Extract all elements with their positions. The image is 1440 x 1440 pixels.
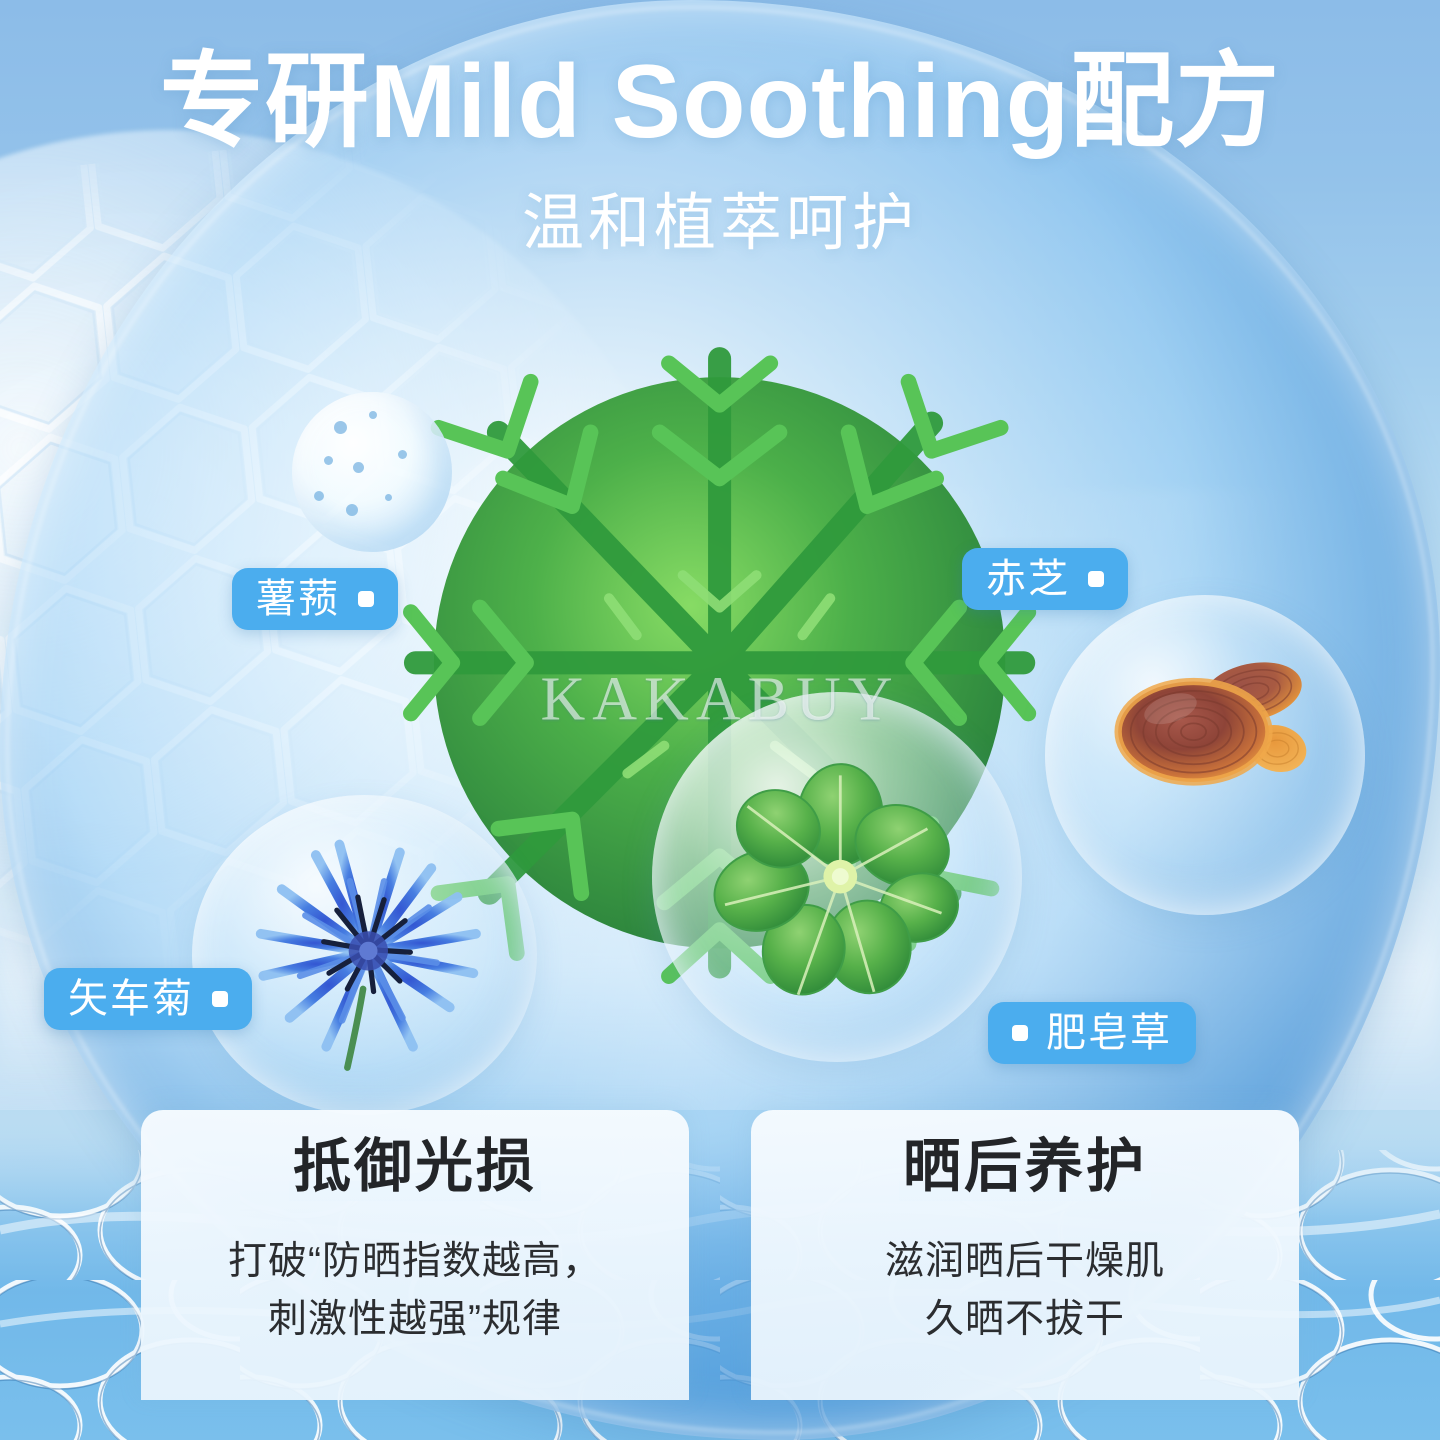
- feature-card-heading: 抵御光损: [289, 1136, 541, 1203]
- feature-cards: 抵御光损 打破“防晒指数越高， 刺激性越强”规律 晒后养护 滋润晒后干燥肌 久晒…: [0, 1110, 1440, 1440]
- ingredient-badge-reishi[interactable]: 赤芝: [962, 548, 1128, 610]
- feature-card-after-sun-care[interactable]: 晒后养护 滋润晒后干燥肌 久晒不拔干: [751, 1110, 1299, 1400]
- cornflower-icon: [220, 821, 517, 1083]
- feature-card-heading: 晒后养护: [899, 1136, 1151, 1203]
- ingredient-badge-soapwort[interactable]: 肥皂草: [988, 1002, 1196, 1064]
- ingredient-badge-label: 肥皂草: [1046, 1013, 1172, 1053]
- ingredient-badge-label: 矢车菊: [68, 979, 194, 1019]
- feature-card-photo-damage[interactable]: 抵御光损 打破“防晒指数越高， 刺激性越强”规律: [141, 1110, 689, 1400]
- badge-dot-icon: [358, 591, 374, 607]
- ingredient-badge-cornflower[interactable]: 矢车菊: [44, 968, 252, 1030]
- ingredient-bubble-cornflower: [192, 795, 537, 1115]
- ingredient-badge-yam[interactable]: 薯蓣: [232, 568, 398, 630]
- ingredient-badge-label: 赤芝: [986, 559, 1070, 599]
- ingredient-bubble-soapwort: [652, 692, 1022, 1062]
- page-subtitle: 温和植萃呵护: [0, 172, 1440, 262]
- ingredient-badge-label: 薯蓣: [256, 579, 340, 619]
- badge-dot-icon: [1012, 1025, 1028, 1041]
- feature-card-heading-text: 晒后养护: [903, 1134, 1147, 1199]
- header: 专研Mild Soothing配方 温和植萃呵护: [0, 46, 1440, 262]
- feature-card-body: 打破“防晒指数越高， 刺激性越强”规律: [141, 1233, 689, 1350]
- feature-card-body-line1: 打破“防晒指数越高，: [141, 1233, 689, 1292]
- feature-card-body-line2: 刺激性越强”规律: [141, 1291, 689, 1350]
- feature-card-body: 滋润晒后干燥肌 久晒不拔干: [751, 1233, 1299, 1350]
- feature-card-body-line2: 久晒不拔干: [751, 1291, 1299, 1350]
- reishi-icon: [1093, 640, 1323, 826]
- soapwort-icon: [696, 736, 985, 1017]
- decorative-mini-bubble: [292, 392, 452, 552]
- watermark: KAKABUY: [541, 665, 900, 736]
- feature-card-body-line1: 滋润晒后干燥肌: [751, 1233, 1299, 1292]
- badge-dot-icon: [1088, 571, 1104, 587]
- poster-canvas: 专研Mild Soothing配方 温和植萃呵护: [0, 0, 1440, 1440]
- badge-dot-icon: [212, 991, 228, 1007]
- page-title: 专研Mild Soothing配方: [0, 46, 1440, 158]
- ingredient-bubble-reishi: [1045, 595, 1365, 915]
- feature-card-heading-text: 抵御光损: [293, 1134, 537, 1199]
